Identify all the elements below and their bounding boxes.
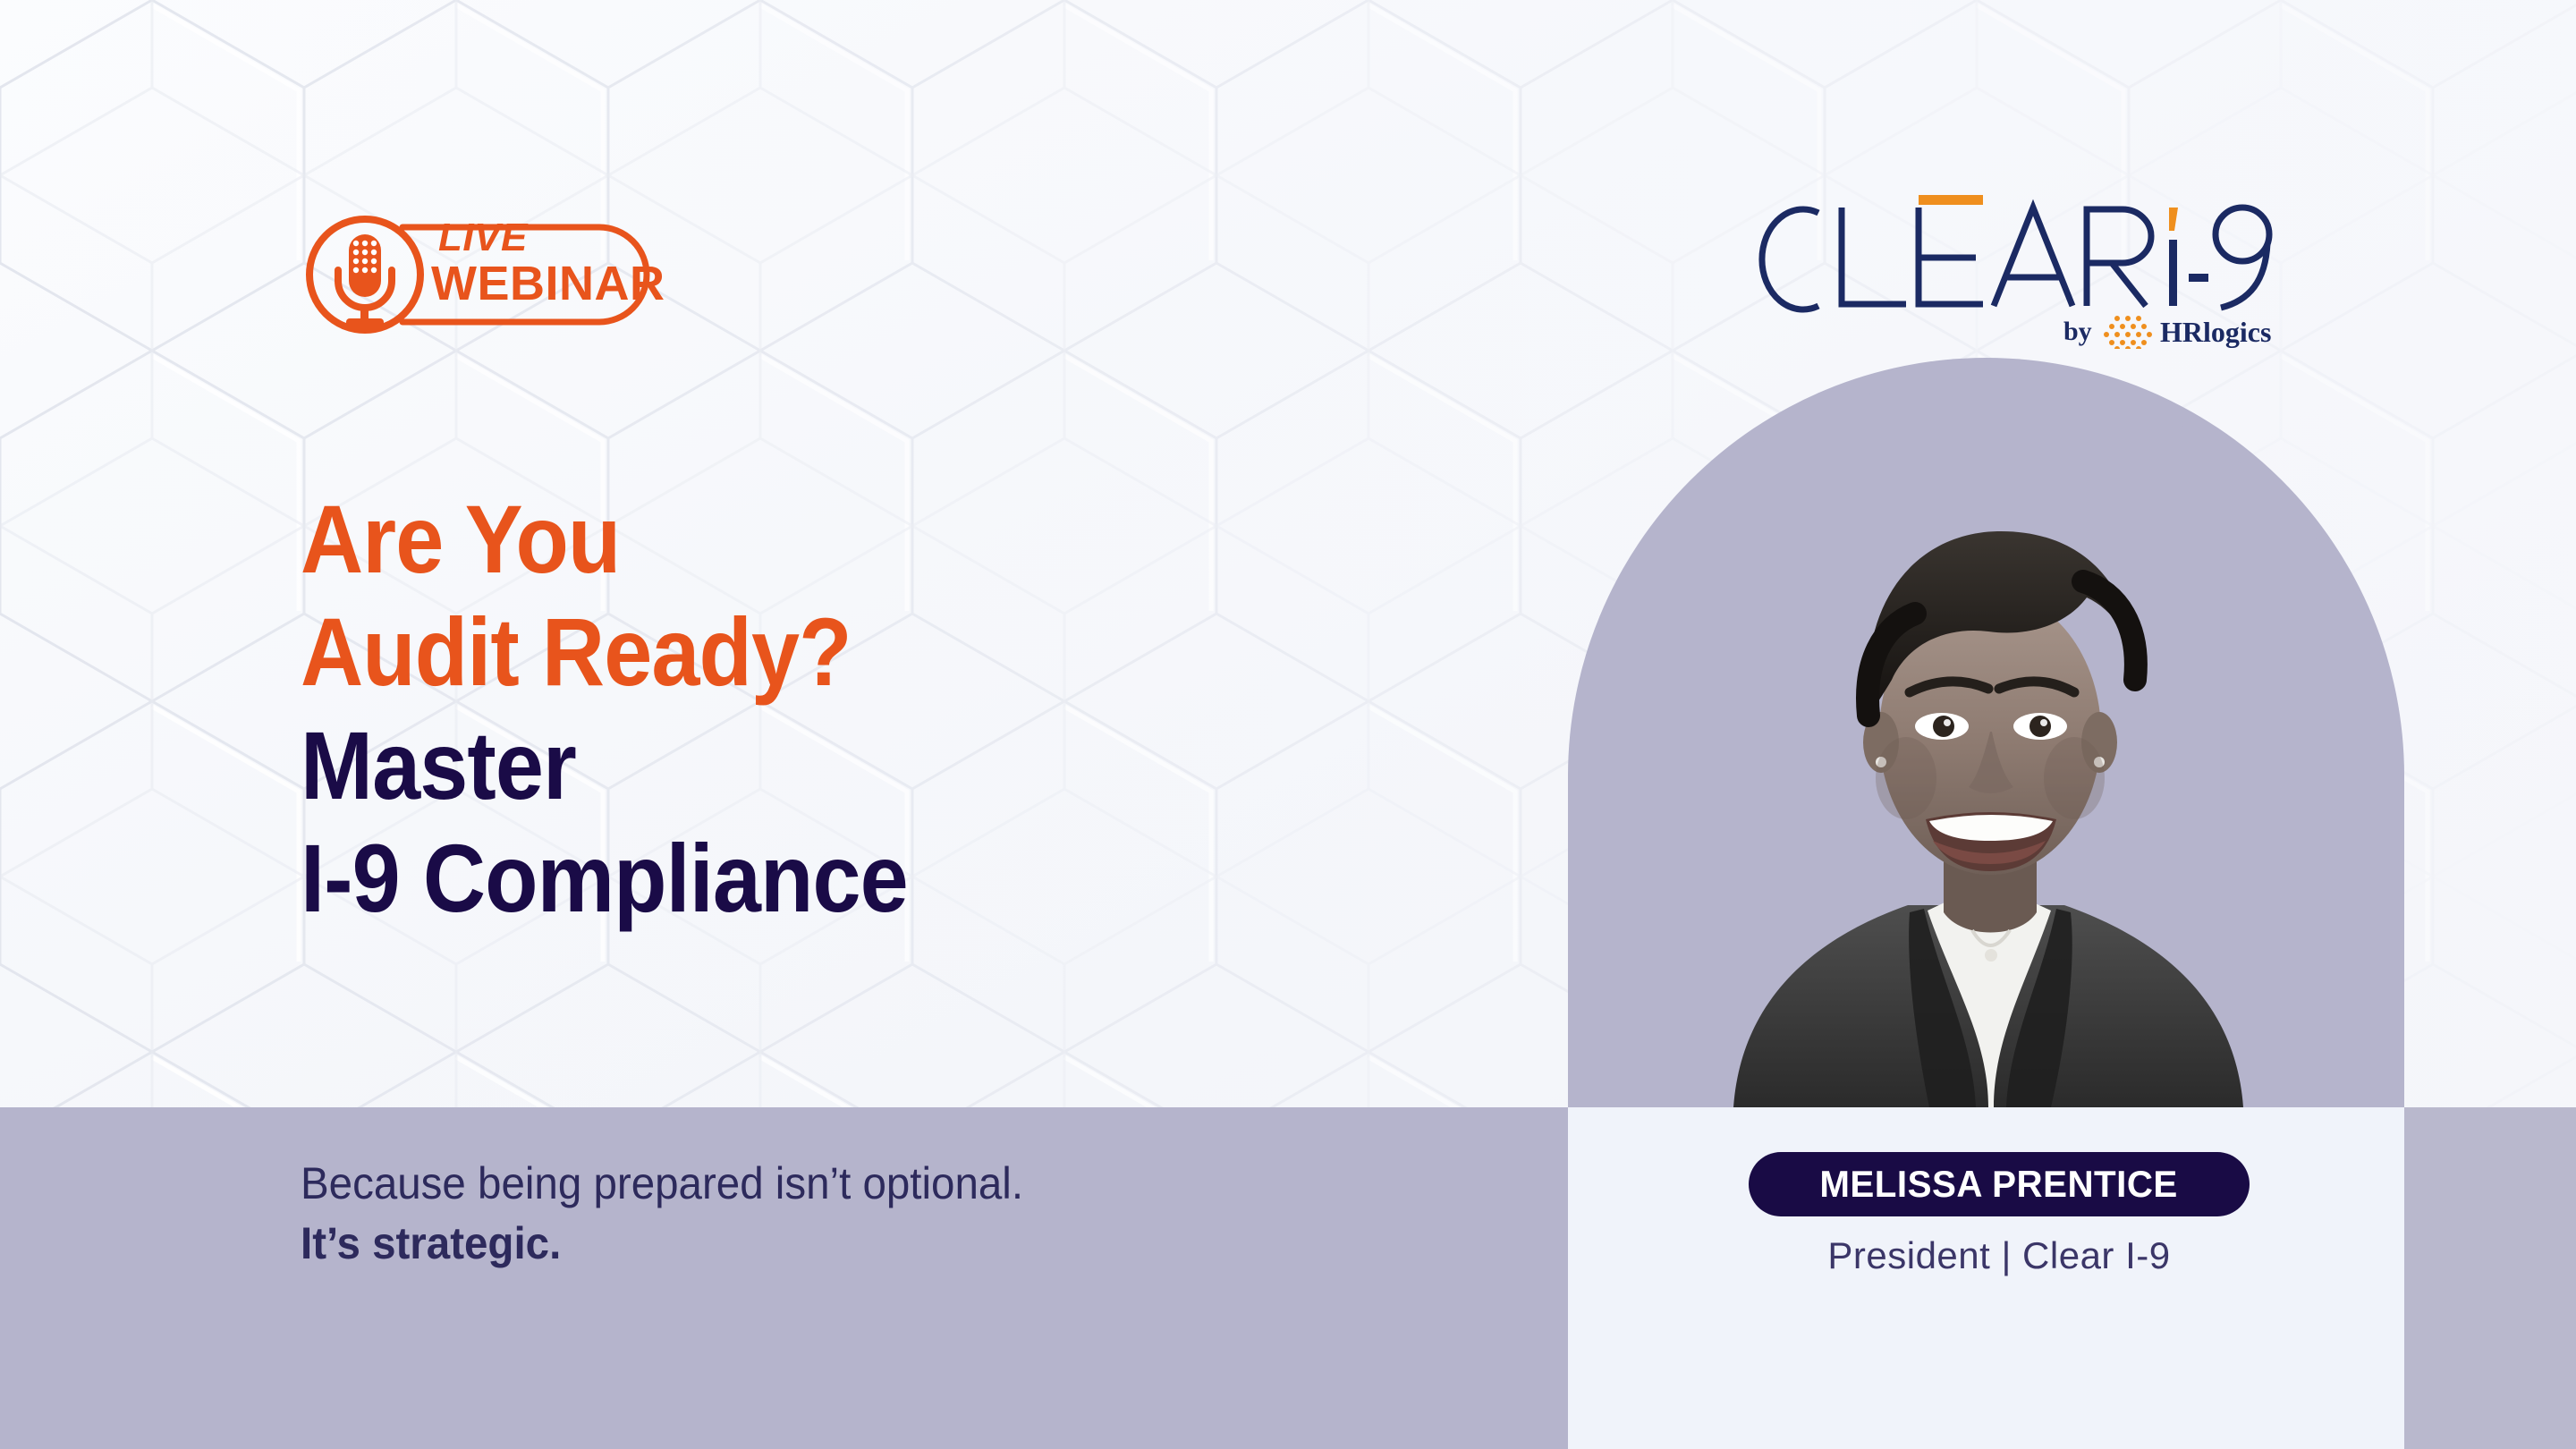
logo-byline-brand: HRlogics bbox=[2160, 316, 2271, 348]
hexagon-dots-icon bbox=[2104, 316, 2152, 349]
live-label: LIVE bbox=[438, 218, 528, 258]
headline-line-3: Master bbox=[301, 709, 1347, 822]
microphone-icon bbox=[338, 234, 392, 327]
banner-canvas: LIVE WEBINAR Are You Audit Ready? Master… bbox=[0, 0, 2576, 1449]
speaker-portrait-image bbox=[1568, 358, 2404, 1107]
clear-i9-logo-graphic: by HRlogics bbox=[1749, 188, 2285, 349]
headline-line-4: I-9 Compliance bbox=[301, 822, 1347, 935]
speaker-role: President | Clear I-9 bbox=[1749, 1234, 2250, 1277]
page-title: Are You Audit Ready? Master I-9 Complian… bbox=[301, 483, 1463, 935]
live-webinar-badge: LIVE WEBINAR bbox=[295, 208, 671, 342]
subtitle-line-1: Because being prepared isn’t optional. bbox=[301, 1154, 1405, 1214]
speaker-name: MELISSA PRENTICE bbox=[1820, 1163, 2178, 1206]
logo-byline-prefix: by bbox=[2063, 317, 2092, 346]
speaker-portrait-frame bbox=[1568, 358, 2404, 1107]
subtitle: Because being prepared isn’t optional. I… bbox=[301, 1154, 1463, 1274]
webinar-label: WEBINAR bbox=[431, 259, 665, 308]
headline-line-1: Are You bbox=[301, 483, 1347, 596]
subtitle-line-2: It’s strategic. bbox=[301, 1214, 1405, 1274]
logo-accent-bar bbox=[1919, 195, 1983, 205]
logo-i-glyph bbox=[2169, 208, 2178, 306]
clear-i9-logo: by HRlogics bbox=[1749, 188, 2285, 349]
bottom-accent-band-right bbox=[2404, 1107, 2576, 1449]
headline-line-2: Audit Ready? bbox=[301, 596, 1347, 708]
speaker-name-badge: MELISSA PRENTICE bbox=[1749, 1152, 2250, 1216]
